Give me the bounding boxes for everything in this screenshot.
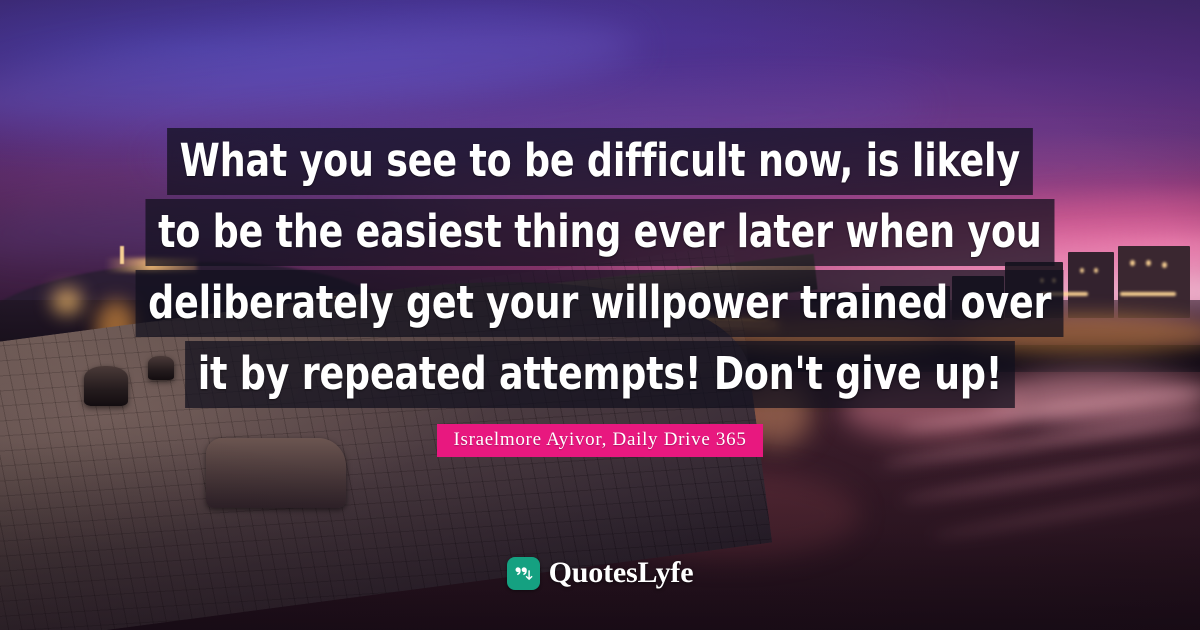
quote-line: to be the easiest thing ever later when … xyxy=(146,199,1055,266)
quote-text: What you see to be difficult now, is lik… xyxy=(0,128,1200,408)
quote-line: deliberately get your willpower trained … xyxy=(136,270,1064,337)
brand-name: QuotesLyfe xyxy=(549,556,694,590)
quote-card: What you see to be difficult now, is lik… xyxy=(0,0,1200,630)
attribution-row: Israelmore Ayivor, Daily Drive 365 xyxy=(0,424,1200,457)
quote-mark-icon xyxy=(507,557,540,590)
quote-line: What you see to be difficult now, is lik… xyxy=(167,128,1032,195)
quote-line: it by repeated attempts! Don't give up! xyxy=(185,341,1015,408)
brand-logo: QuotesLyfe xyxy=(0,556,1200,590)
attribution-banner: Israelmore Ayivor, Daily Drive 365 xyxy=(437,424,762,457)
